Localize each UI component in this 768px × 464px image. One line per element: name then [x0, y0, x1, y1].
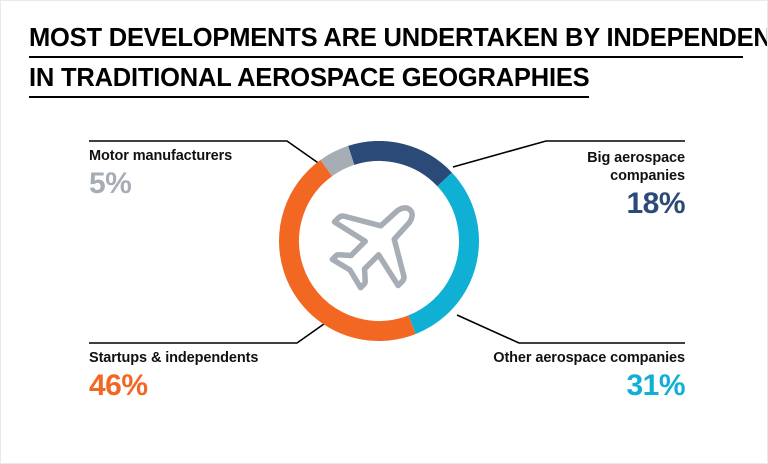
callout-motor-category: Motor manufacturers — [89, 147, 319, 165]
callout-big-category-line-1: Big aerospace — [471, 149, 685, 167]
infographic-canvas: MOST DEVELOPMENTS ARE UNDERTAKEN BY INDE… — [0, 0, 768, 464]
callout-startups-independents: Startups & independents 46% — [89, 349, 339, 403]
callout-motor-value: 5% — [89, 167, 319, 201]
callout-startups-category: Startups & independents — [89, 349, 339, 367]
callout-big-value: 18% — [471, 187, 685, 221]
callout-startups-value: 46% — [89, 369, 339, 403]
donut-chart: Motor manufacturers 5% Big aerospace com… — [1, 1, 768, 464]
callout-big-category-line-2: companies — [471, 167, 685, 185]
callout-other-value: 31% — [435, 369, 685, 403]
callout-motor-manufacturers: Motor manufacturers 5% — [89, 147, 319, 201]
callout-other-category: Other aerospace companies — [435, 349, 685, 367]
callout-other-aerospace-companies: Other aerospace companies 31% — [435, 349, 685, 403]
airplane-icon — [315, 178, 442, 305]
callout-big-aerospace-companies: Big aerospace companies 18% — [471, 149, 685, 221]
leader-line-other — [457, 315, 685, 343]
